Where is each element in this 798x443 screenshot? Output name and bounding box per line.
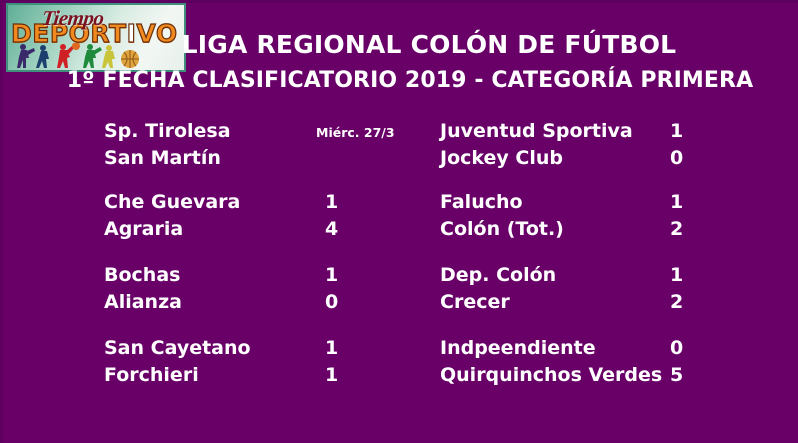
tiempo-deportivo-logo: Tiempo DEPORTIVO [6,3,186,72]
away-team-score: 2 [670,289,683,316]
match-row: Che Guevara 1 Falucho 1 [0,189,798,216]
match-row: Alianza 0 Crecer 2 [0,289,798,316]
home-team-name: San Martín [104,145,221,172]
home-team-score: 1 [325,362,338,389]
away-team-name: Indpeendiente [440,335,596,362]
away-team-name: Dep. Colón [440,262,556,289]
away-team-score: 0 [670,145,683,172]
home-team-score: 1 [325,189,338,216]
home-team-name: San Cayetano [104,335,251,362]
logo-tiempo-text: Tiempo [41,6,105,31]
match-group: Sp. Tirolesa Miérc. 27/3 Juventud Sporti… [0,118,798,172]
match-group: Che Guevara 1 Falucho 1 Agraria 4 Colón … [0,189,798,243]
away-team-name: Colón (Tot.) [440,216,564,243]
match-row: Sp. Tirolesa Miérc. 27/3 Juventud Sporti… [0,118,798,145]
results-list: Sp. Tirolesa Miérc. 27/3 Juventud Sporti… [0,118,798,408]
home-team-score: 0 [325,289,338,316]
home-team-name: Agraria [104,216,183,243]
away-team-score: 0 [670,335,683,362]
home-team-score: 4 [325,216,338,243]
match-row: Bochas 1 Dep. Colón 1 [0,262,798,289]
away-team-name: Juventud Sportiva [440,118,633,145]
home-team-name: Bochas [104,262,180,289]
page-subtitle: 1º FECHA CLASIFICATORIO 2019 - CATEGORÍA… [0,68,798,93]
home-team-name: Sp. Tirolesa [104,118,231,145]
away-team-score: 1 [670,118,683,145]
athlete-silhouettes-icon [14,43,164,69]
away-team-name: Crecer [440,289,510,316]
away-team-name: Quirquinchos Verdes [440,362,662,389]
away-team-score: 1 [670,189,683,216]
away-team-score: 1 [670,262,683,289]
match-row: Forchieri 1 Quirquinchos Verdes 5 [0,362,798,389]
home-team-name: Alianza [104,289,182,316]
logo-artwork: Tiempo DEPORTIVO [8,5,184,70]
slide-canvas: Tiempo DEPORTIVO [0,0,798,443]
home-team-name: Che Guevara [104,189,240,216]
match-row: San Martín Jockey Club 0 [0,145,798,172]
away-team-name: Falucho [440,189,523,216]
home-team-score: 1 [325,335,338,362]
home-team-name: Forchieri [104,362,199,389]
match-row: San Cayetano 1 Indpeendiente 0 [0,335,798,362]
home-team-score: 1 [325,262,338,289]
match-row: Agraria 4 Colón (Tot.) 2 [0,216,798,243]
match-group: San Cayetano 1 Indpeendiente 0 Forchieri… [0,335,798,389]
match-date-note: Miérc. 27/3 [316,119,395,146]
away-team-score: 2 [670,216,683,243]
match-group: Bochas 1 Dep. Colón 1 Alianza 0 Crecer 2 [0,262,798,316]
away-team-score: 5 [670,362,683,389]
away-team-name: Jockey Club [440,145,563,172]
